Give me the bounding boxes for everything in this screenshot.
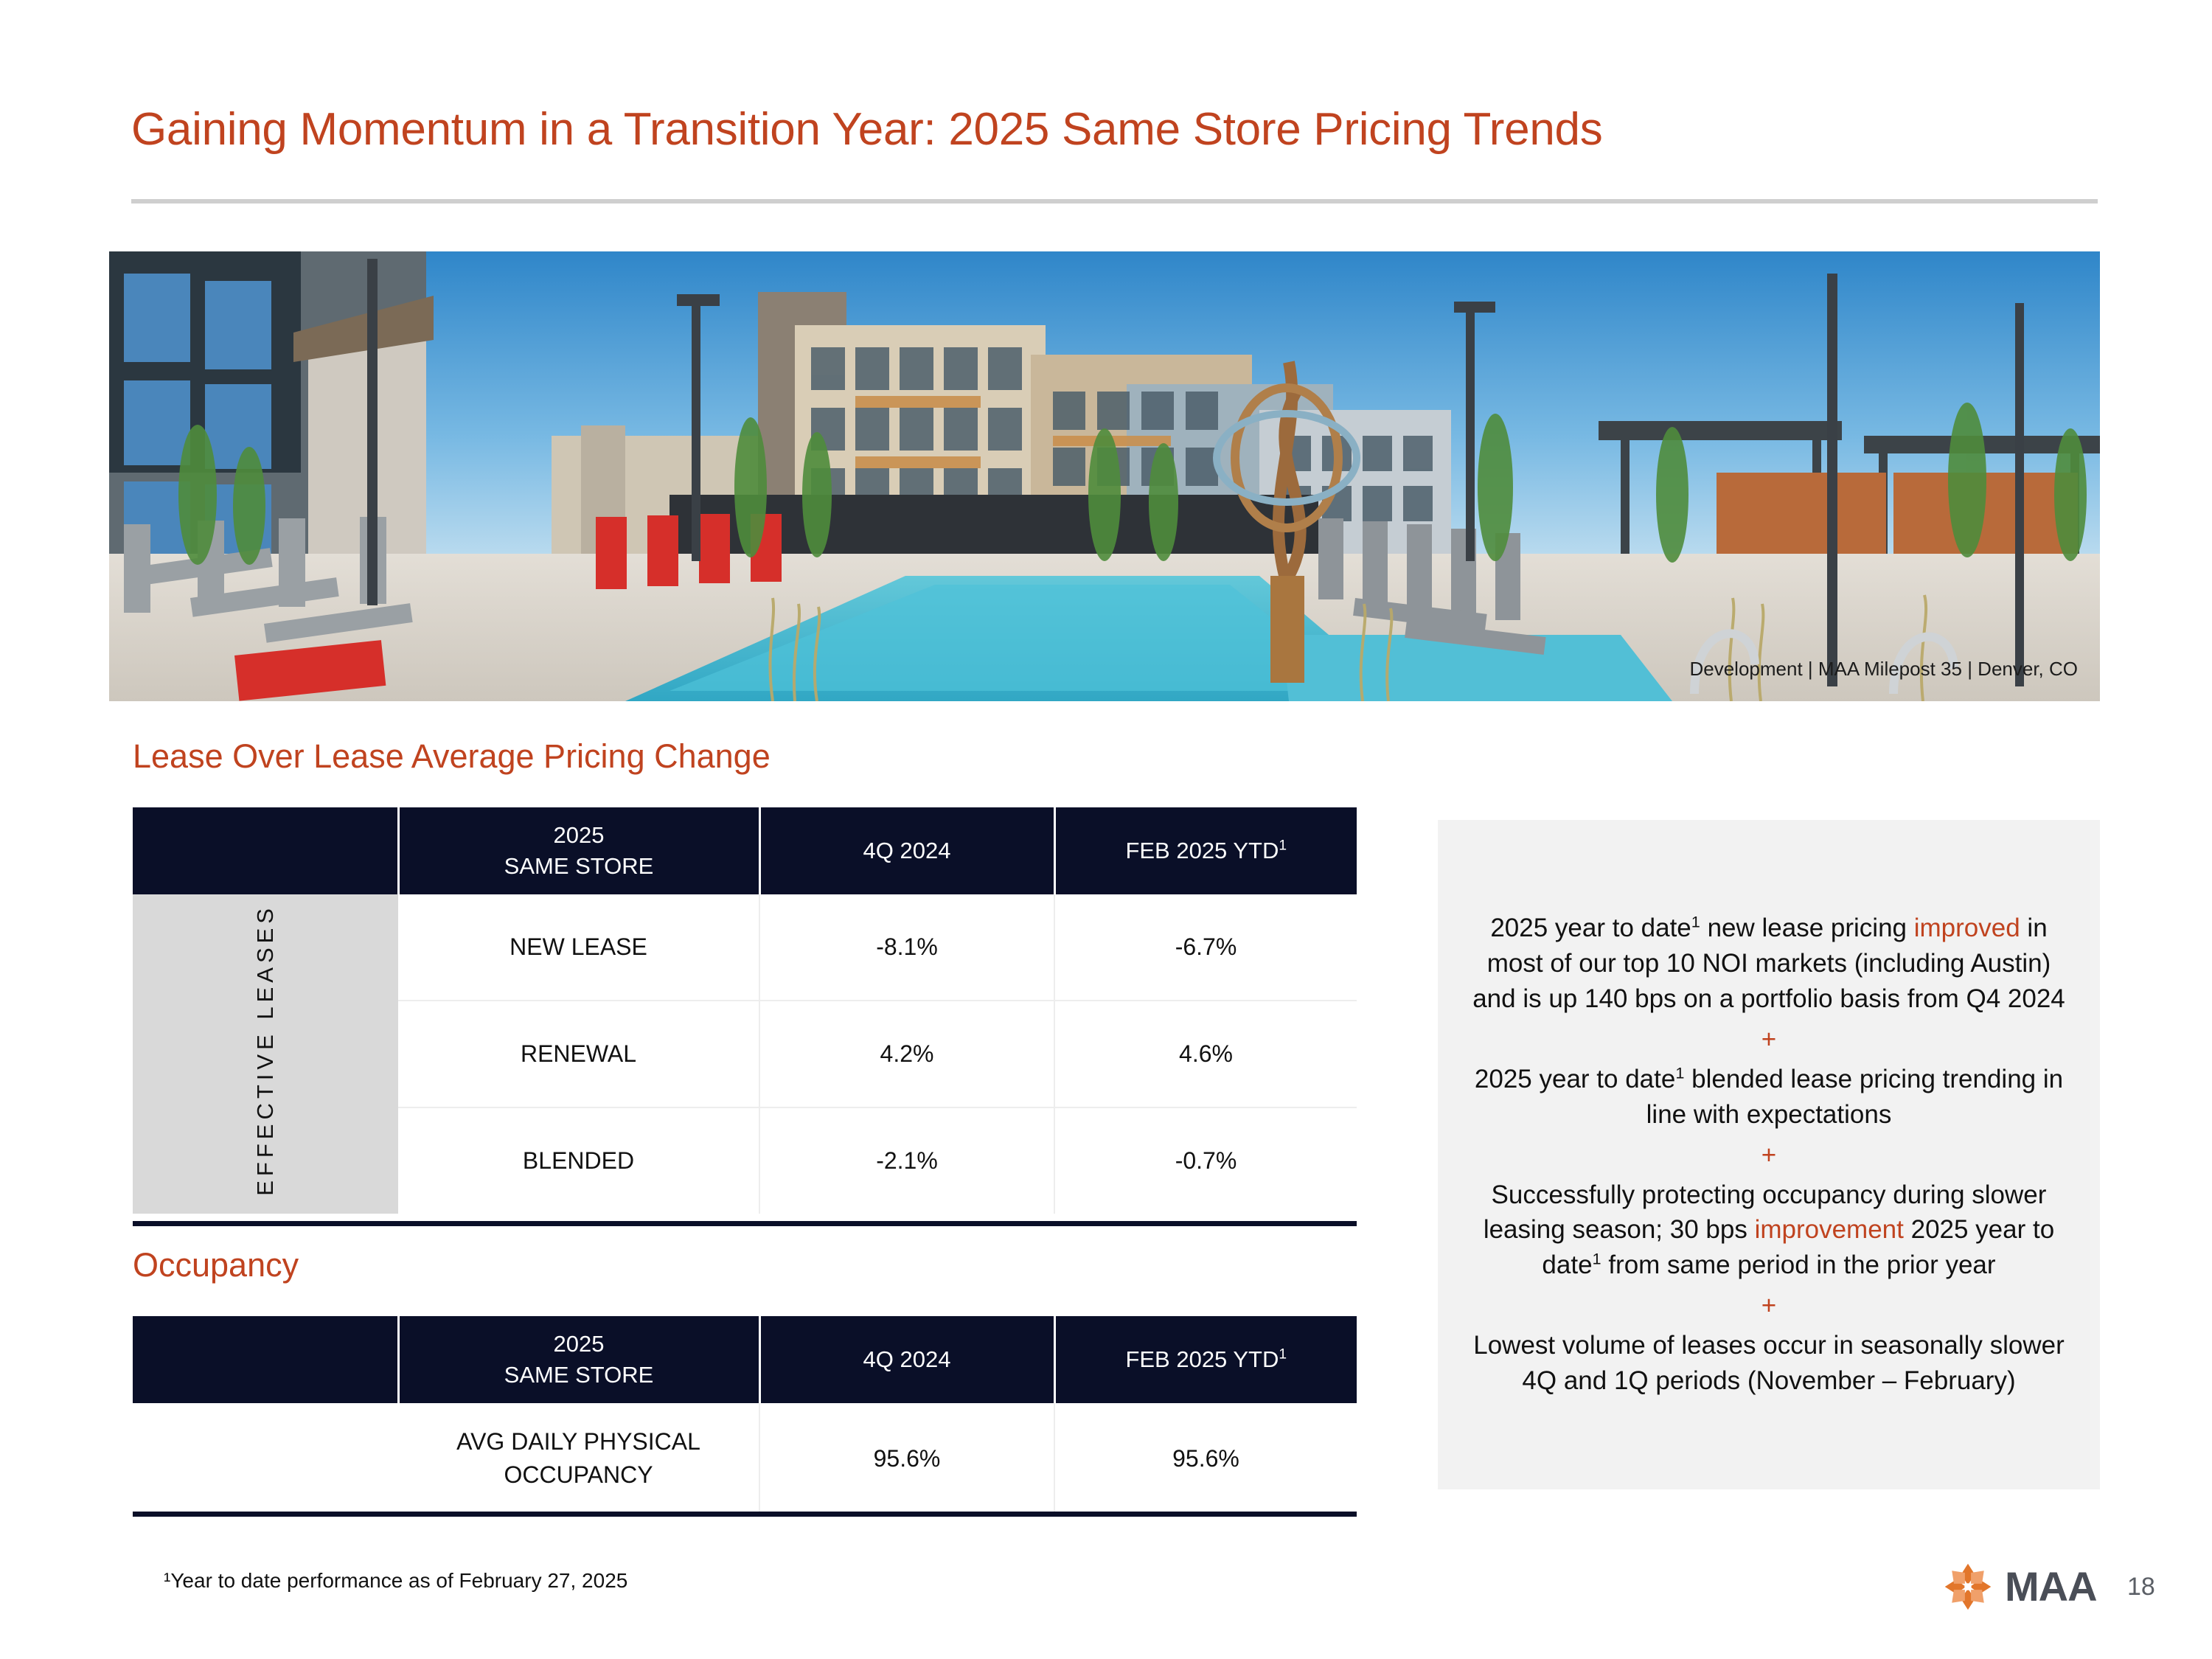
footnote: ¹Year to date performance as of February… <box>164 1569 627 1593</box>
cell-blank <box>133 1403 398 1514</box>
cell-q4-2024: 95.6% <box>759 1403 1054 1514</box>
header-cell-q4-2024: 4Q 2024 <box>759 807 1054 894</box>
occupancy-table-underline <box>133 1512 1357 1517</box>
header-ytd-text: FEB 2025 YTD <box>1125 838 1279 863</box>
occupancy-table: 2025 SAME STORE 4Q 2024 FEB 2025 YTD1 AV… <box>133 1316 1357 1514</box>
commentary-block-4: Lowest volume of leases occur in seasona… <box>1463 1328 2075 1399</box>
maa-flower-icon <box>1943 1562 1993 1612</box>
header-ytd-text: FEB 2025 YTD <box>1125 1346 1279 1372</box>
c2-post: blended lease pricing trending in line w… <box>1646 1065 2063 1129</box>
cell-feb-2025-ytd: -0.7% <box>1054 1107 1357 1214</box>
cell-q4-2024: -8.1% <box>759 894 1054 1001</box>
cell-row-label: NEW LEASE <box>398 894 759 1001</box>
c2-sup: 1 <box>1675 1063 1684 1082</box>
c1-sup: 1 <box>1691 912 1700 931</box>
c3-post: from same period in the prior year <box>1601 1251 1996 1279</box>
header-same-store-line1: 2025 <box>400 820 759 851</box>
page-number: 18 <box>2127 1573 2155 1601</box>
property-photo: Development | MAA Milepost 35 | Denver, … <box>109 251 2100 701</box>
cell-q4-2024: -2.1% <box>759 1107 1054 1214</box>
header-cell-blank <box>133 1316 398 1403</box>
section-heading-lease: Lease Over Lease Average Pricing Change <box>133 737 771 776</box>
cell-row-label: RENEWAL <box>398 1001 759 1107</box>
cell-row-label: AVG DAILY PHYSICAL OCCUPANCY <box>398 1403 759 1514</box>
header-ytd-superscript: 1 <box>1279 838 1287 854</box>
header-same-store-line2: SAME STORE <box>400 1360 759 1391</box>
table-header-row: 2025 SAME STORE 4Q 2024 FEB 2025 YTD1 <box>133 807 1357 894</box>
lease-table-underline <box>133 1221 1357 1226</box>
section-heading-occupancy: Occupancy <box>133 1246 299 1284</box>
header-same-store-line2: SAME STORE <box>400 851 759 882</box>
lease-pricing-table: 2025 SAME STORE 4Q 2024 FEB 2025 YTD1 EF… <box>133 807 1357 1214</box>
header-cell-same-store: 2025 SAME STORE <box>398 1316 759 1403</box>
commentary-panel: 2025 year to date1 new lease pricing imp… <box>1438 820 2100 1489</box>
header-cell-same-store: 2025 SAME STORE <box>398 807 759 894</box>
photo-illustration <box>109 251 2100 701</box>
page-title: Gaining Momentum in a Transition Year: 2… <box>131 103 1602 156</box>
plus-separator-1: + <box>1761 1026 1776 1052</box>
commentary-block-3: Successfully protecting occupancy during… <box>1463 1178 2075 1284</box>
header-cell-blank <box>133 807 398 894</box>
table-row: AVG DAILY PHYSICAL OCCUPANCY 95.6% 95.6% <box>133 1403 1357 1514</box>
row-group-label-text: EFFECTIVE LEASES <box>249 904 281 1196</box>
c2-pre: 2025 year to date <box>1475 1065 1675 1093</box>
cell-row-label-line1: AVG DAILY PHYSICAL <box>398 1425 759 1458</box>
commentary-block-1: 2025 year to date1 new lease pricing imp… <box>1463 911 2075 1017</box>
header-cell-feb-2025-ytd: FEB 2025 YTD1 <box>1054 1316 1357 1403</box>
cell-feb-2025-ytd: 95.6% <box>1054 1403 1357 1514</box>
maa-logo-text: MAA <box>2005 1566 2097 1607</box>
header-cell-feb-2025-ytd: FEB 2025 YTD1 <box>1054 807 1357 894</box>
commentary-block-2: 2025 year to date1 blended lease pricing… <box>1463 1062 2075 1133</box>
c1-highlight: improved <box>1914 914 2020 942</box>
title-divider <box>131 199 2098 204</box>
photo-caption: Development | MAA Milepost 35 | Denver, … <box>1689 658 2078 681</box>
c3-highlight: improvement <box>1755 1215 1904 1244</box>
header-ytd-superscript: 1 <box>1279 1347 1287 1363</box>
c1-pre: 2025 year to date <box>1490 914 1691 942</box>
cell-row-label: BLENDED <box>398 1107 759 1214</box>
c1-mid: new lease pricing <box>1700 914 1914 942</box>
plus-separator-3: + <box>1761 1293 1776 1318</box>
cell-feb-2025-ytd: -6.7% <box>1054 894 1357 1001</box>
table-header-row: 2025 SAME STORE 4Q 2024 FEB 2025 YTD1 <box>133 1316 1357 1403</box>
header-cell-q4-2024: 4Q 2024 <box>759 1316 1054 1403</box>
slide-root: Gaining Momentum in a Transition Year: 2… <box>0 0 2212 1659</box>
cell-q4-2024: 4.2% <box>759 1001 1054 1107</box>
c3-sup: 1 <box>1593 1250 1601 1268</box>
plus-separator-2: + <box>1761 1142 1776 1168</box>
cell-feb-2025-ytd: 4.6% <box>1054 1001 1357 1107</box>
header-same-store-line1: 2025 <box>400 1329 759 1360</box>
row-group-label-effective-leases: EFFECTIVE LEASES <box>133 894 398 1214</box>
table-row: EFFECTIVE LEASES NEW LEASE -8.1% -6.7% <box>133 894 1357 1001</box>
cell-row-label-line2: OCCUPANCY <box>398 1458 759 1492</box>
maa-logo: MAA <box>1943 1562 2097 1612</box>
